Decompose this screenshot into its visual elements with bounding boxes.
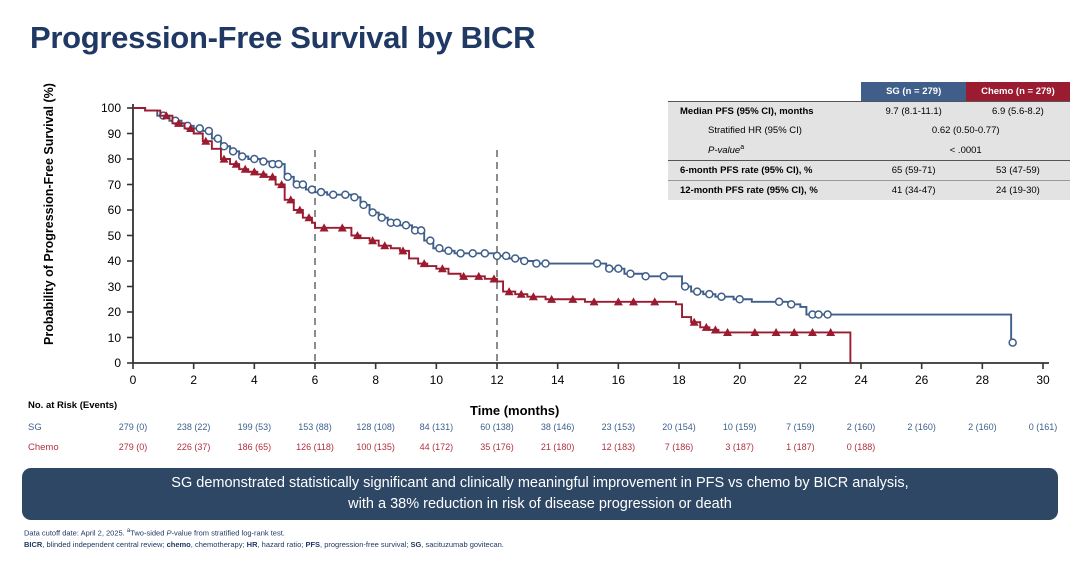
censor-circle-marker — [196, 125, 203, 132]
risk-table-title: No. at Risk (Events) — [28, 400, 117, 411]
censor-circle-marker — [642, 273, 649, 280]
risk-cell-sg-12mo: 60 (138) — [467, 422, 527, 432]
page-title: Progression-Free Survival by BICR — [30, 20, 535, 56]
x-tick-label: 8 — [361, 373, 391, 387]
slide-root: Progression-Free Survival by BICR SG (n … — [0, 0, 1080, 562]
x-tick-label: 2 — [179, 373, 209, 387]
censor-circle-marker — [660, 273, 667, 280]
x-tick-label: 14 — [543, 373, 573, 387]
km-curve-sg — [133, 108, 1016, 343]
risk-cell-sg-10mo: 84 (131) — [406, 422, 466, 432]
censor-circle-marker — [776, 298, 783, 305]
risk-row-label-chemo: Chemo — [28, 442, 59, 453]
risk-cell-sg-22mo: 7 (159) — [770, 422, 830, 432]
censor-circle-marker — [360, 201, 367, 208]
censor-circle-marker — [284, 173, 291, 180]
risk-cell-sg-6mo: 153 (88) — [285, 422, 345, 432]
footnotes: Data cutoff date: April 2, 2025. aTwo-si… — [24, 527, 1064, 551]
risk-cell-sg-18mo: 20 (154) — [649, 422, 709, 432]
risk-cell-sg-8mo: 128 (108) — [346, 422, 406, 432]
risk-cell-chemo-14mo: 21 (180) — [528, 442, 588, 452]
y-tick-label: 70 — [91, 178, 121, 192]
footnote-abbrevs: BICR, blinded independent central review… — [24, 540, 504, 549]
censor-circle-marker — [594, 260, 601, 267]
censor-circle-marker — [205, 127, 212, 134]
censor-circle-marker — [378, 214, 385, 221]
risk-cell-chemo-12mo: 35 (176) — [467, 442, 527, 452]
series-chemo — [133, 108, 850, 363]
km-curve-chemo — [133, 108, 850, 363]
risk-cell-chemo-10mo: 44 (172) — [406, 442, 466, 452]
x-tick-label: 18 — [664, 373, 694, 387]
censor-circle-marker — [299, 181, 306, 188]
x-tick-label: 6 — [300, 373, 330, 387]
censor-circle-marker — [694, 288, 701, 295]
censor-circle-marker — [308, 186, 315, 193]
x-tick-label: 16 — [603, 373, 633, 387]
summary-banner-line2: with a 38% reduction in risk of disease … — [348, 494, 732, 515]
x-tick-label: 28 — [967, 373, 997, 387]
risk-cell-chemo-16mo: 12 (183) — [588, 442, 648, 452]
risk-cell-sg-2mo: 238 (22) — [164, 422, 224, 432]
y-tick-label: 40 — [91, 254, 121, 268]
risk-cell-chemo-20mo: 3 (187) — [710, 442, 770, 452]
censor-circle-marker — [503, 252, 510, 259]
censor-circle-marker — [736, 296, 743, 303]
y-tick-label: 90 — [91, 127, 121, 141]
risk-cell-sg-26mo: 2 (160) — [892, 422, 952, 432]
y-tick-label: 60 — [91, 203, 121, 217]
censor-circle-marker — [403, 222, 410, 229]
censor-circle-marker — [239, 153, 246, 160]
risk-cell-sg-20mo: 10 (159) — [710, 422, 770, 432]
censor-circle-marker — [533, 260, 540, 267]
censor-circle-marker — [494, 252, 501, 259]
risk-cell-sg-4mo: 199 (53) — [224, 422, 284, 432]
censor-circle-marker — [330, 191, 337, 198]
censor-circle-marker — [706, 291, 713, 298]
x-tick-label: 30 — [1028, 373, 1058, 387]
censor-circle-marker — [457, 250, 464, 257]
risk-row-label-sg: SG — [28, 422, 42, 433]
censor-circle-marker — [275, 161, 282, 168]
risk-cell-chemo-24mo: 0 (188) — [831, 442, 891, 452]
censor-circle-marker — [318, 189, 325, 196]
footnote-logrank: -value from stratified log-rank test. — [172, 529, 285, 538]
risk-cell-sg-16mo: 23 (153) — [588, 422, 648, 432]
risk-cell-chemo-18mo: 7 (186) — [649, 442, 709, 452]
risk-cell-sg-14mo: 38 (146) — [528, 422, 588, 432]
censor-circle-marker — [445, 247, 452, 254]
x-tick-label: 20 — [725, 373, 755, 387]
censor-circle-marker — [418, 227, 425, 234]
km-chart: Probability of Progression-Free Survival… — [0, 95, 1080, 415]
censor-circle-marker — [615, 265, 622, 272]
footnote-twosided: Two-sided — [130, 529, 166, 538]
risk-cell-sg-30mo: 0 (161) — [1013, 422, 1073, 432]
censor-circle-marker — [824, 311, 831, 318]
censor-circle-marker — [682, 283, 689, 290]
censor-circle-marker — [481, 250, 488, 257]
y-tick-label: 80 — [91, 152, 121, 166]
risk-table: No. at Risk (Events) SG Chemo 279 (0)279… — [0, 400, 1080, 462]
censor-circle-marker — [214, 135, 221, 142]
censor-circle-marker — [230, 148, 237, 155]
censor-circle-marker — [1009, 339, 1016, 346]
y-tick-label: 50 — [91, 229, 121, 243]
censor-circle-marker — [815, 311, 822, 318]
y-tick-label: 10 — [91, 331, 121, 345]
risk-cell-chemo-2mo: 226 (37) — [164, 442, 224, 452]
km-plot-svg — [0, 95, 1080, 415]
y-tick-label: 30 — [91, 280, 121, 294]
censor-circle-marker — [351, 194, 358, 201]
risk-cell-chemo-0mo: 279 (0) — [103, 442, 163, 452]
risk-cell-chemo-6mo: 126 (118) — [285, 442, 345, 452]
risk-cell-sg-24mo: 2 (160) — [831, 422, 891, 432]
footnote-cutoff: Data cutoff date: April 2, 2025. — [24, 529, 127, 538]
risk-cell-sg-0mo: 279 (0) — [103, 422, 163, 432]
censor-circle-marker — [512, 255, 519, 262]
censor-circle-marker — [436, 245, 443, 252]
risk-cell-chemo-8mo: 100 (135) — [346, 442, 406, 452]
x-tick-label: 0 — [118, 373, 148, 387]
censor-circle-marker — [369, 209, 376, 216]
y-tick-label: 20 — [91, 305, 121, 319]
footnote-line-2: BICR, blinded independent central review… — [24, 539, 1064, 551]
risk-cell-sg-28mo: 2 (160) — [952, 422, 1012, 432]
y-axis-label: Probability of Progression-Free Survival… — [42, 69, 56, 359]
censor-circle-marker — [718, 293, 725, 300]
x-tick-label: 22 — [785, 373, 815, 387]
censor-circle-marker — [260, 158, 267, 165]
summary-banner: SG demonstrated statistically significan… — [22, 468, 1058, 520]
summary-banner-line1: SG demonstrated statistically significan… — [171, 473, 908, 494]
x-tick-label: 24 — [846, 373, 876, 387]
x-tick-label: 4 — [239, 373, 269, 387]
y-tick-label: 0 — [91, 356, 121, 370]
risk-cell-chemo-22mo: 1 (187) — [770, 442, 830, 452]
censor-circle-marker — [427, 237, 434, 244]
censor-circle-marker — [788, 301, 795, 308]
censor-circle-marker — [393, 219, 400, 226]
censor-circle-marker — [542, 260, 549, 267]
censor-circle-marker — [606, 265, 613, 272]
x-tick-label: 12 — [482, 373, 512, 387]
x-tick-label: 26 — [907, 373, 937, 387]
risk-cell-chemo-4mo: 186 (65) — [224, 442, 284, 452]
y-tick-label: 100 — [91, 101, 121, 115]
x-tick-label: 10 — [421, 373, 451, 387]
censor-circle-marker — [342, 191, 349, 198]
censor-circle-marker — [469, 250, 476, 257]
censor-circle-marker — [251, 156, 258, 163]
footnote-line-1: Data cutoff date: April 2, 2025. aTwo-si… — [24, 527, 1064, 539]
axes — [127, 104, 1049, 369]
series-sg — [133, 108, 1016, 346]
censor-circle-marker — [627, 270, 634, 277]
censor-circle-marker — [521, 258, 528, 265]
